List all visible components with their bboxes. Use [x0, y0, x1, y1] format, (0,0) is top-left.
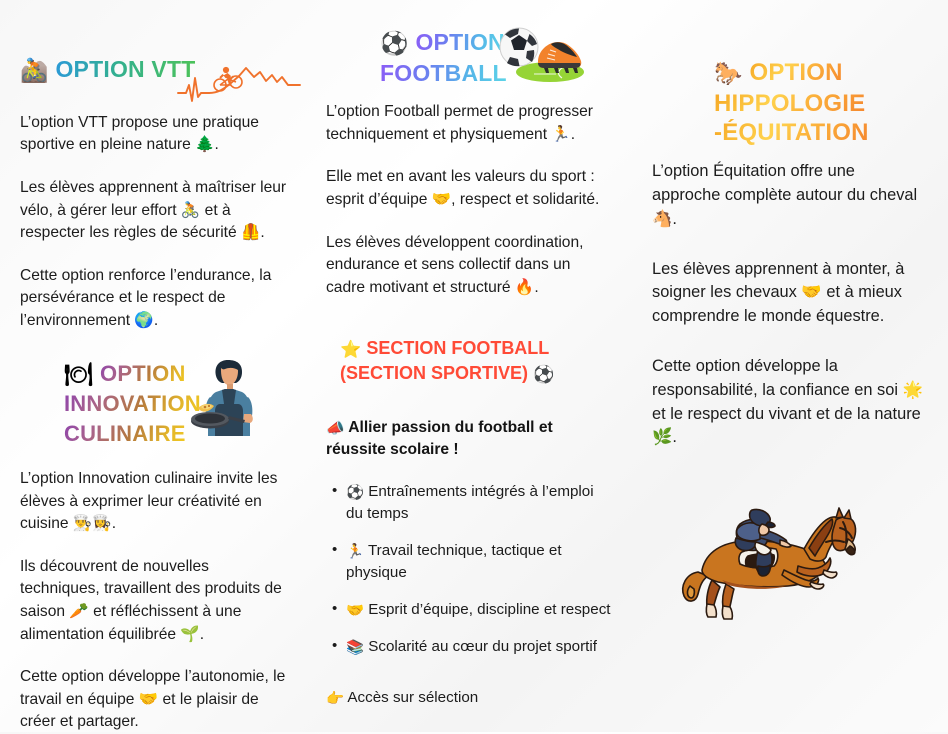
section-footer-note: 👉 Accès sur sélection	[326, 687, 612, 709]
heading-section-football: ⭐ SECTION FOOTBALL (SECTION SPORTIVE) ⚽	[326, 337, 612, 385]
section-title-line2: (SECTION SPORTIVE)	[340, 363, 528, 383]
spacer	[326, 146, 612, 166]
spacer	[20, 157, 290, 177]
culinaire-paragraph-2: Ils découvrent de nouvelles techniques, …	[20, 556, 290, 646]
spacer	[20, 448, 290, 468]
list-item: 🤝 Esprit d’équipe, discipline et respect	[346, 599, 612, 622]
culinaire-paragraph-1: L’option Innovation culinaire invite les…	[20, 468, 290, 536]
soccer-ball-icon-2: ⚽	[533, 365, 554, 385]
vtt-paragraph-2: Les élèves apprennent à maîtriser leur v…	[20, 177, 290, 245]
pointing-right-icon: 👉	[326, 691, 344, 707]
section-lead-line: 📣 Allier passion du football et réussite…	[326, 417, 612, 461]
spacer	[326, 88, 612, 101]
chef-cooking-illustration	[188, 352, 284, 445]
heading-hippologie-line1: OPTION	[749, 59, 842, 86]
spacer	[20, 245, 290, 265]
heading-option-vtt-text: OPTION VTT	[55, 56, 195, 82]
megaphone-icon: 📣	[326, 420, 344, 437]
spacer	[652, 232, 926, 258]
horse-icon: 🐎	[714, 61, 743, 87]
spacer	[652, 329, 926, 355]
heading-football-line2: FOOTBALL	[380, 60, 507, 86]
soccer-ball-and-cleat-illustration	[494, 22, 586, 89]
spacer	[326, 461, 612, 481]
show-jumping-horse-illustration	[676, 494, 868, 629]
spacer	[326, 404, 612, 417]
list-item: 📚 Scolarité au cœur du projet sportif	[346, 636, 612, 659]
list-item-label: Scolarité au cœur du projet sportif	[368, 638, 597, 655]
spacer	[326, 212, 612, 232]
spacer	[20, 536, 290, 556]
column-right: 🐎 OPTION HIPPOLOGIE -ÉQUITATION L’option…	[628, 0, 948, 450]
vtt-paragraph-3: Cette option renforce l’endurance, la pe…	[20, 265, 290, 333]
poster-canvas: 🚵 OPTION VTT L’option VTT propose une pr…	[0, 0, 948, 732]
heading-hippologie-line2: HIPPOLOGIE	[714, 90, 865, 117]
vtt-heartbeat-mountain-illustration	[176, 52, 302, 113]
section-bullet-list: ⚽ Entraînements intégrés à l’emploi du t…	[326, 481, 612, 659]
list-item: ⚽ Entraînements intégrés à l’emploi du t…	[346, 481, 612, 525]
hippologie-paragraph-1: L’option Équitation offre une approche c…	[652, 160, 926, 231]
heading-football-line1: OPTION	[415, 29, 504, 55]
hippologie-paragraph-3: Cette option développe la responsabilité…	[652, 355, 926, 450]
football-paragraph-2: Elle met en avant les valeurs du sport :…	[326, 166, 612, 211]
vtt-paragraph-1: L’option VTT propose une pratique sporti…	[20, 112, 290, 157]
fork-knife-plate-icon: 🍽	[64, 362, 93, 388]
heading-hippologie-line3: -ÉQUITATION	[714, 119, 869, 146]
running-person-icon: 🏃	[346, 544, 364, 560]
handshake-icon: 🤝	[346, 603, 364, 619]
mountain-biking-icon: 🚵	[20, 58, 49, 84]
section-title-line1: SECTION FOOTBALL	[366, 338, 549, 358]
soccer-ball-outline-icon: ⚽	[346, 485, 364, 501]
football-paragraph-3: Les élèves développent coordination, end…	[326, 232, 612, 300]
heading-culinaire-line1: OPTION	[100, 361, 186, 386]
spacer	[652, 147, 926, 160]
soccer-ball-icon: ⚽	[380, 31, 409, 57]
section-footer-text: Accès sur sélection	[347, 689, 478, 706]
books-icon: 📚	[346, 640, 364, 656]
column-middle: ⚽ OPTION FOOTBALL L’option Football perm…	[312, 0, 628, 709]
list-item-label: Esprit d’équipe, discipline et respect	[368, 601, 610, 618]
list-item-label: Entraînements intégrés à l’emploi du tem…	[346, 483, 594, 523]
heading-option-hippologie-equitation: 🐎 OPTION HIPPOLOGIE -ÉQUITATION	[652, 58, 926, 147]
spacer	[326, 674, 612, 687]
list-item-label: Travail technique, tactique et physique	[346, 542, 562, 582]
heading-culinaire-line2: INNOVATION	[64, 391, 201, 416]
list-item: 🏃 Travail technique, tactique et physiqu…	[346, 540, 612, 584]
spacer	[20, 646, 290, 666]
heading-culinaire-line3: CULINAIRE	[64, 421, 186, 446]
spacer	[326, 299, 612, 319]
hippologie-paragraph-2: Les élèves apprennent à monter, à soigne…	[652, 258, 926, 329]
section-lead-text: Allier passion du football et réussite s…	[326, 419, 553, 458]
football-paragraph-1: L’option Football permet de progresser t…	[326, 101, 612, 146]
culinaire-paragraph-3: Cette option développe l’autonomie, le t…	[20, 666, 290, 734]
star-icon: ⭐	[340, 340, 361, 360]
